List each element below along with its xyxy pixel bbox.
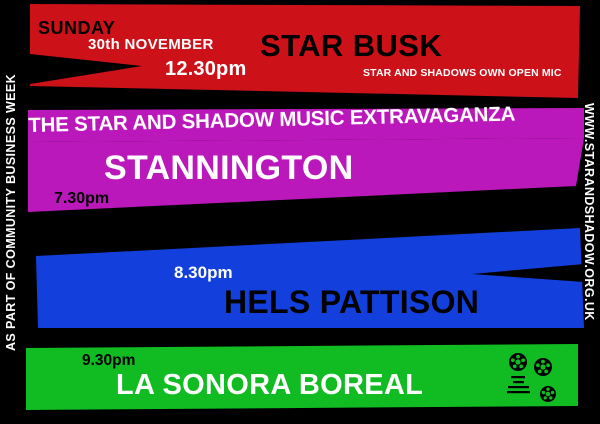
band-star-busk: SUNDAY 30th NOVEMBER 12.30pm STAR BUSK S… xyxy=(30,4,582,104)
band-hels-pattison: 8.30pm HELS PATTISON xyxy=(32,228,584,334)
blue-time-label: 8.30pm xyxy=(174,263,233,283)
band-la-sonora-boreal: 9.30pm LA SONORA BOREAL xyxy=(26,344,578,416)
magenta-time-label: 7.30pm xyxy=(54,190,109,208)
green-act-name: LA SONORA BOREAL xyxy=(116,369,423,402)
red-act-subtitle: STAR AND SHADOWS OWN OPEN MIC xyxy=(363,67,562,79)
magenta-act-name: STANNINGTON xyxy=(104,149,354,188)
red-act-name: STAR BUSK xyxy=(260,28,442,64)
red-date-label: 30th NOVEMBER xyxy=(88,36,214,53)
gig-poster: AS PART OF COMMUNITY BUSINESS WEEK WWW.S… xyxy=(0,0,600,424)
community-business-week-sidebar: AS PART OF COMMUNITY BUSINESS WEEK xyxy=(0,0,24,424)
green-time-label: 9.30pm xyxy=(82,352,135,370)
star-and-shadow-film-reel-logo xyxy=(502,350,564,408)
blue-act-name: HELS PATTISON xyxy=(224,284,479,321)
red-time-label: 12.30pm xyxy=(165,58,246,81)
band-stannington: THE STAR AND SHADOW MUSIC EXTRAVAGANZA S… xyxy=(28,108,584,216)
